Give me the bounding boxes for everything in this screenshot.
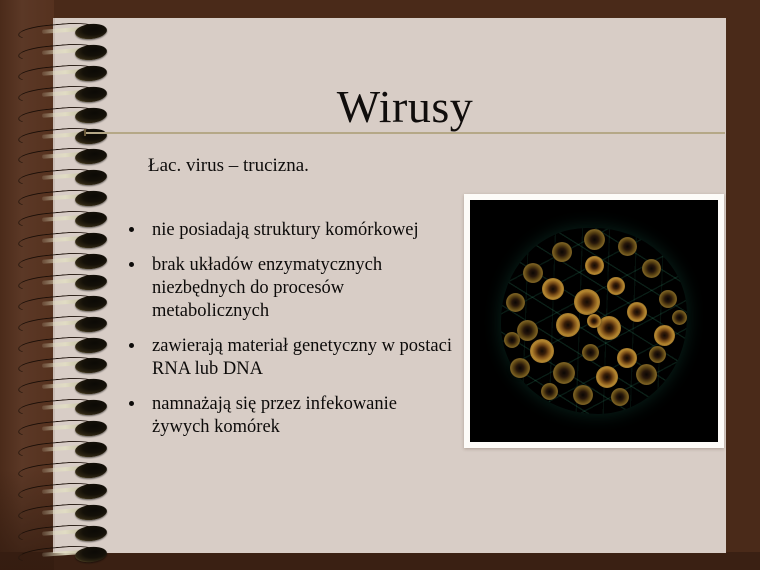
- capsomere: [541, 383, 558, 400]
- bullet-dot-icon: [129, 227, 134, 232]
- bullet-list: nie posiadają struktury komórkowej brak …: [124, 219, 454, 439]
- capsomere: [584, 229, 605, 250]
- slide-canvas: Wirusy Łac. virus – trucizna. nie posiad…: [0, 0, 760, 570]
- capsid-body: [501, 228, 687, 414]
- capsomere: [618, 237, 637, 256]
- list-item: zawierają materiał genetyczny w postaci …: [124, 335, 454, 381]
- capsomere: [504, 332, 520, 348]
- capsomere: [574, 289, 600, 315]
- slide-frame-top: [0, 0, 760, 19]
- virus-capsid-image: [470, 200, 718, 442]
- title-divider: [85, 132, 725, 134]
- capsomere: [582, 344, 599, 361]
- capsomere: [585, 256, 604, 275]
- list-item: namnażają się przez infekowanie żywych k…: [124, 393, 454, 439]
- notebook-page-edge: [53, 18, 55, 553]
- capsomere: [510, 358, 530, 378]
- title-divider-cap: [84, 129, 86, 136]
- bullet-dot-icon: [129, 401, 134, 406]
- list-item-label: brak układów enzymatycznych niezbędnych …: [152, 255, 382, 321]
- capsomere: [659, 290, 677, 308]
- capsomere: [556, 313, 580, 337]
- capsomere: [587, 314, 601, 328]
- list-item-label: namnażają się przez infekowanie żywych k…: [152, 394, 397, 437]
- capsomere: [596, 366, 618, 388]
- list-item-label: nie posiadają struktury komórkowej: [152, 220, 419, 240]
- slide-frame-shadow: [0, 470, 54, 570]
- virus-image-frame: [464, 194, 724, 448]
- capsomere: [523, 263, 543, 283]
- slide-frame-bottom: [0, 552, 760, 570]
- capsomere: [649, 346, 666, 363]
- list-item-label: zawierają materiał genetyczny w postaci …: [152, 336, 452, 379]
- page-title: Wirusy: [85, 83, 725, 131]
- capsomere: [672, 310, 687, 325]
- slide-frame-right: [725, 0, 760, 570]
- capsomere: [627, 302, 647, 322]
- bullet-dot-icon: [129, 343, 134, 348]
- list-item: nie posiadają struktury komórkowej: [124, 219, 454, 242]
- capsomere: [530, 339, 554, 363]
- bullet-dot-icon: [129, 262, 134, 267]
- subtitle-text: Łac. virus – trucizna.: [148, 154, 309, 178]
- capsomere: [607, 277, 625, 295]
- capsomere: [636, 364, 657, 385]
- list-item: brak układów enzymatycznych niezbędnych …: [124, 254, 454, 323]
